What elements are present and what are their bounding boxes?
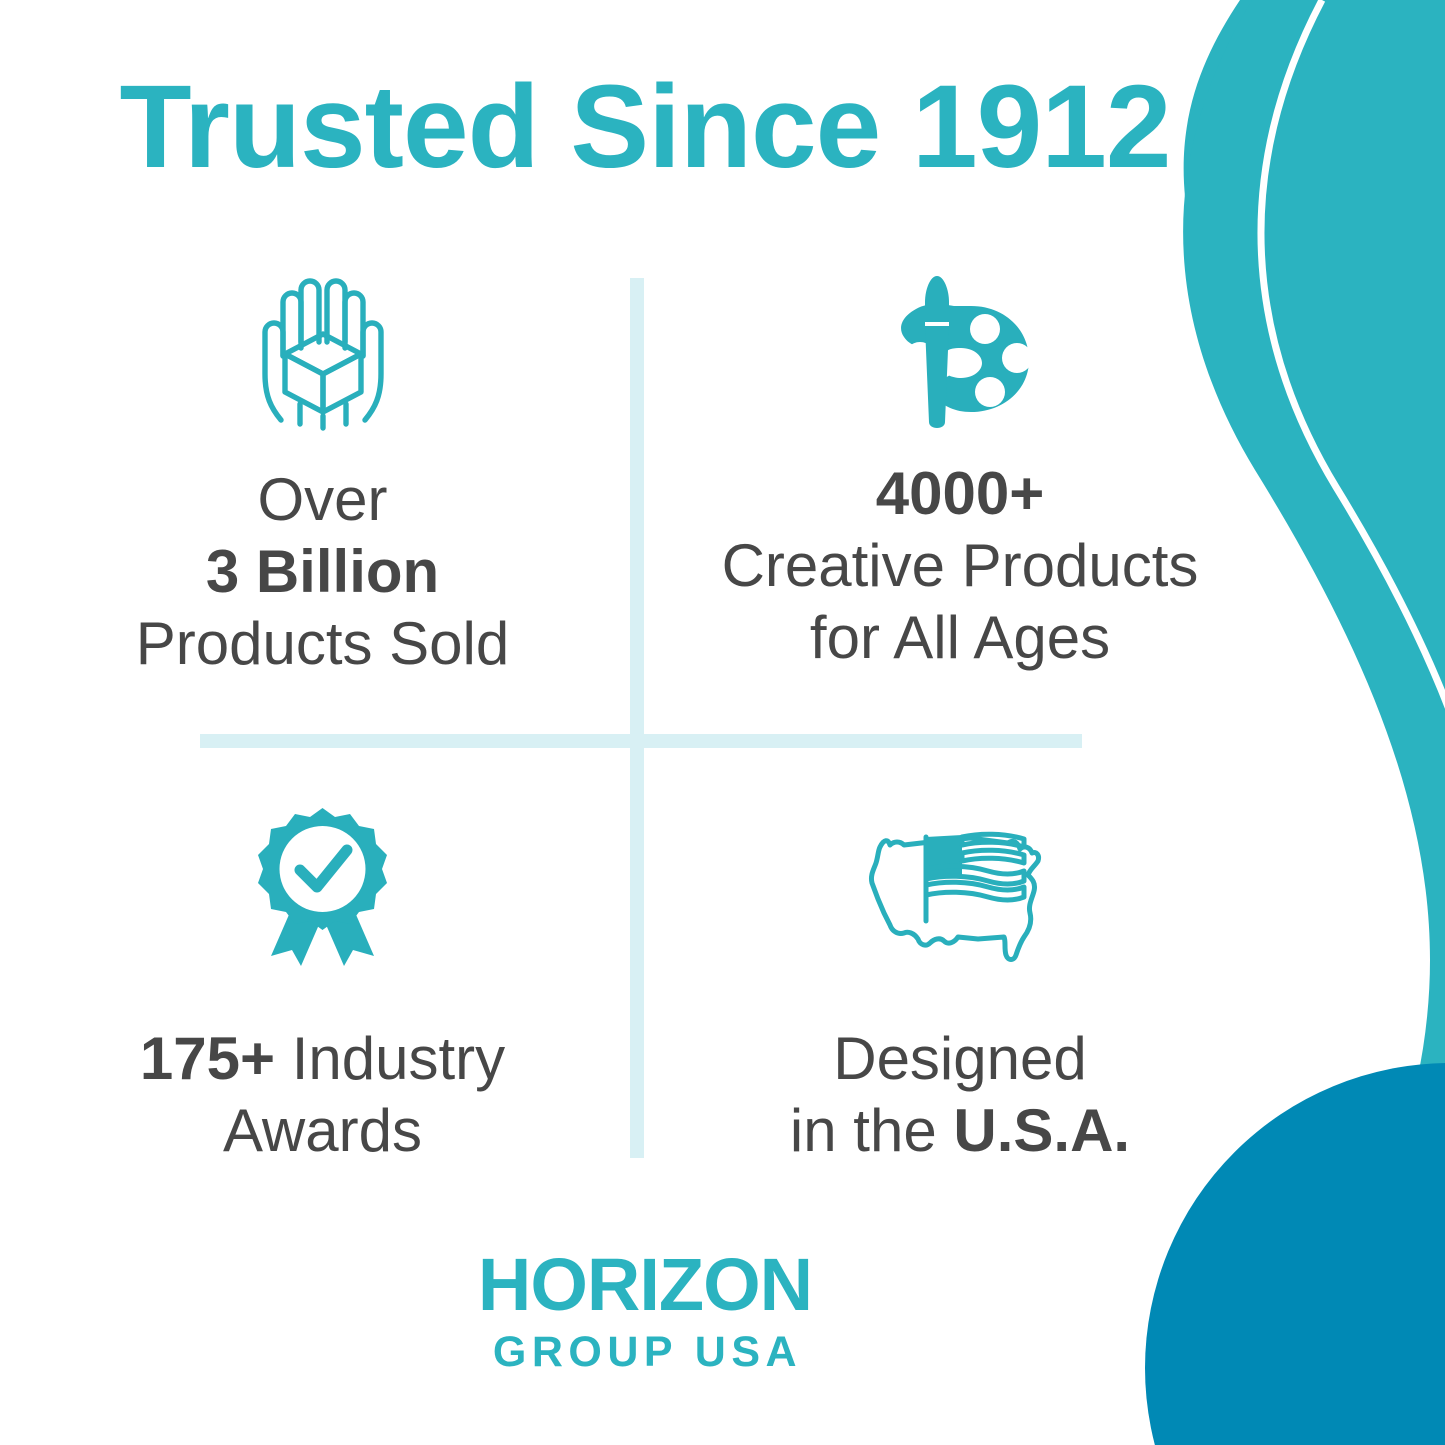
stat-cell-products-sold: Over 3 Billion Products Sold xyxy=(30,276,615,680)
stat-cell-creative-products: 4000+ Creative Products for All Ages xyxy=(660,270,1260,674)
stat-text-products-sold: Over 3 Billion Products Sold xyxy=(30,464,615,680)
teal-crescent-swoosh xyxy=(1180,0,1445,1445)
stat-cell-designed-usa: Designed in the U.S.A. xyxy=(660,806,1260,1167)
stat-cell-industry-awards: 175+ Industry Awards xyxy=(30,806,615,1167)
stat-text-industry-awards: 175+ Industry Awards xyxy=(30,1023,615,1167)
stat-line-2-rest: in the xyxy=(790,1097,953,1164)
stat-line-2: Creative Products xyxy=(722,532,1199,599)
brand-logo: HORIZON GROUP USA xyxy=(0,1248,1290,1376)
stat-text-designed-usa: Designed in the U.S.A. xyxy=(660,1023,1260,1167)
icon-container xyxy=(660,270,1260,436)
brand-logo-main: HORIZON xyxy=(0,1248,1290,1322)
infographic-canvas: Trusted Since 1912 xyxy=(0,0,1445,1445)
icon-container xyxy=(660,806,1260,971)
stat-line-1-bold: 175+ xyxy=(140,1025,292,1092)
stat-line-2: Awards xyxy=(223,1097,422,1164)
brand-logo-sub: GROUP USA xyxy=(0,1328,1290,1376)
stat-line-3: for All Ages xyxy=(810,604,1110,671)
usa-map-flag-icon xyxy=(858,821,1063,971)
stat-line-3: Products Sold xyxy=(136,610,510,677)
award-ribbon-check-icon xyxy=(245,806,400,971)
stat-text-creative-products: 4000+ Creative Products for All Ages xyxy=(660,458,1260,674)
page-title: Trusted Since 1912 xyxy=(0,68,1290,186)
stat-line-2-bold: U.S.A. xyxy=(953,1097,1130,1164)
teal-swoosh-body xyxy=(1183,0,1445,1445)
divider-vertical xyxy=(630,278,644,1158)
stat-line-1-rest: Industry xyxy=(292,1025,505,1092)
stat-line-1: Designed xyxy=(833,1025,1087,1092)
stat-line-1: 4000+ xyxy=(876,460,1045,527)
icon-container xyxy=(30,806,615,971)
icon-container xyxy=(30,276,615,436)
stat-line-2: 3 Billion xyxy=(206,538,439,605)
hands-holding-box-icon xyxy=(228,276,418,436)
stat-line-1: Over xyxy=(257,466,387,533)
background-decoration xyxy=(0,0,1445,1445)
paint-palette-brush-icon xyxy=(875,270,1045,436)
